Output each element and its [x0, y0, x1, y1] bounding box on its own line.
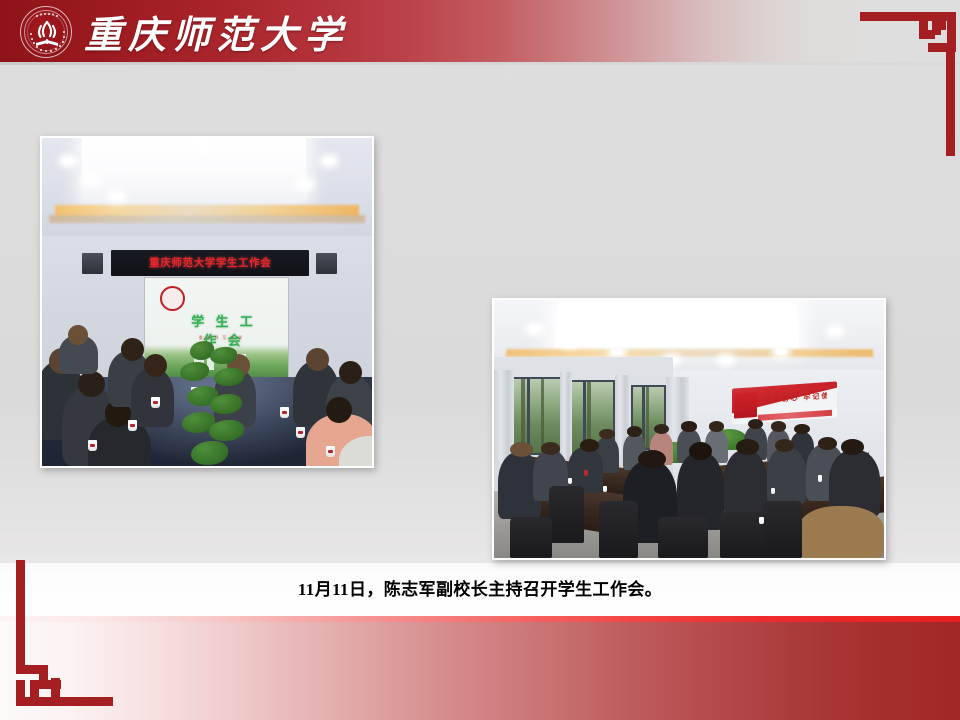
downlight — [62, 158, 74, 164]
page-title: 重庆师范大学 — [84, 4, 348, 58]
header-underline — [0, 62, 960, 65]
attendee-head — [78, 371, 104, 397]
attendee-head — [736, 439, 759, 454]
party-emblem-icon — [734, 392, 757, 419]
ceiling-light-panel — [555, 303, 800, 347]
office-chair — [658, 517, 709, 558]
curtain — [560, 372, 572, 460]
university-seal-icon — [20, 6, 72, 58]
paper-cup — [326, 446, 335, 457]
office-chair — [510, 517, 553, 558]
plant-leaf — [180, 362, 209, 380]
cove-light-shadow — [49, 215, 366, 223]
conference-banner: 重庆师范大学学生工作会 — [111, 250, 309, 276]
office-chair — [599, 501, 638, 558]
photo-student-work-conference-wide: 不忘初心 牢记使命 — [492, 298, 886, 560]
plant-leaf — [210, 347, 237, 364]
cove-light — [505, 349, 873, 357]
ceiling-light-panel — [82, 138, 306, 200]
attendee — [724, 450, 767, 517]
paper-cup — [88, 440, 97, 451]
attendee-head — [748, 419, 764, 429]
attendee — [767, 447, 806, 504]
attendee-head — [306, 348, 329, 371]
plant-leaf — [210, 394, 242, 414]
table-plant — [174, 341, 253, 466]
chinese-corner-ornament-bottom-left — [8, 560, 118, 715]
paper-cup — [568, 478, 572, 484]
slide-caption: 11月11日，陈志军副校长主持召开学生工作会。 — [0, 575, 960, 600]
downlight — [299, 181, 311, 187]
downlight — [775, 349, 787, 355]
office-chair — [763, 501, 802, 558]
attendee-head — [709, 421, 725, 431]
attendee — [798, 506, 884, 558]
downlight — [529, 326, 541, 332]
photo-student-work-conference-front: 重庆师范大学学生工作会 学 生 工 作 会 重 庆 师 范 大 学 — [40, 136, 374, 468]
water-bottle — [818, 475, 822, 482]
downlight — [197, 145, 209, 151]
attendee-head — [771, 421, 787, 431]
paper-cup — [280, 407, 289, 418]
wall-speaker — [316, 253, 337, 274]
screen-seal-icon — [160, 286, 185, 311]
paper-cup — [296, 427, 305, 438]
photo-1-content: 重庆师范大学学生工作会 学 生 工 作 会 重 庆 师 范 大 学 — [42, 138, 372, 466]
attendee-head — [841, 439, 864, 454]
photo-2-content: 不忘初心 牢记使命 — [494, 300, 884, 558]
attendee-head — [818, 437, 838, 450]
plant-leaf — [191, 441, 227, 465]
attendee-head — [541, 442, 561, 455]
water-bottle — [584, 470, 588, 476]
screen-subtitle: 重 庆 师 范 大 学 — [171, 335, 271, 341]
slide: 重庆师范大学 — [0, 0, 960, 720]
paper-cup — [151, 397, 160, 408]
paper-cup — [759, 517, 764, 524]
tree-trunk — [541, 379, 545, 452]
wall-speaker — [82, 253, 103, 274]
paper-cup — [771, 488, 775, 494]
chinese-corner-ornament-top-right — [860, 8, 956, 161]
downlight — [611, 349, 623, 355]
plant-leaf — [214, 368, 244, 386]
party-theme-wall-art: 不忘初心 牢记使命 — [732, 381, 837, 424]
downlight — [111, 194, 123, 200]
footer-gradient-band — [0, 622, 960, 720]
conference-banner-text: 重庆师范大学学生工作会 — [149, 255, 271, 270]
office-chair — [549, 486, 584, 543]
paper-cup — [128, 420, 137, 431]
paper-cup — [603, 486, 607, 492]
downlight — [323, 158, 335, 164]
attendee-head — [638, 450, 665, 468]
attendee-head — [794, 424, 810, 434]
attendee-head — [681, 421, 697, 431]
attendee-head — [68, 325, 88, 345]
downlight — [720, 357, 732, 363]
downlight — [564, 339, 576, 345]
attendee-head — [627, 426, 643, 436]
plant-leaf — [209, 420, 244, 441]
attendee-head — [339, 361, 362, 384]
tree-trunk — [646, 387, 648, 448]
